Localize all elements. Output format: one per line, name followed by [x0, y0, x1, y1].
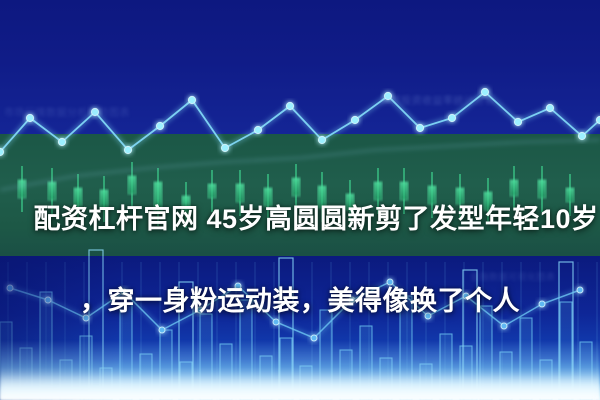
headline-line-1: 配资杠杆官网 45岁高圆圆新剪了发型年轻10岁 [33, 204, 598, 234]
headline-line-2: ，穿一身粉运动装，美得像换了个人 [0, 281, 600, 322]
banner-image: 市场行情数据分析走势图表 股票投资收益率统计分析 行情指数成交量趋势 金融数据可… [0, 0, 600, 400]
headline-text: 配资杠杆官网 45岁高圆圆新剪了发型年轻10岁 ，穿一身粉运动装，美得像换了个人 [0, 158, 600, 400]
watermark-text-1: 市场行情数据分析走势图表 [4, 104, 130, 119]
watermark-text-2: 股票投资收益率统计分析 [380, 92, 496, 107]
